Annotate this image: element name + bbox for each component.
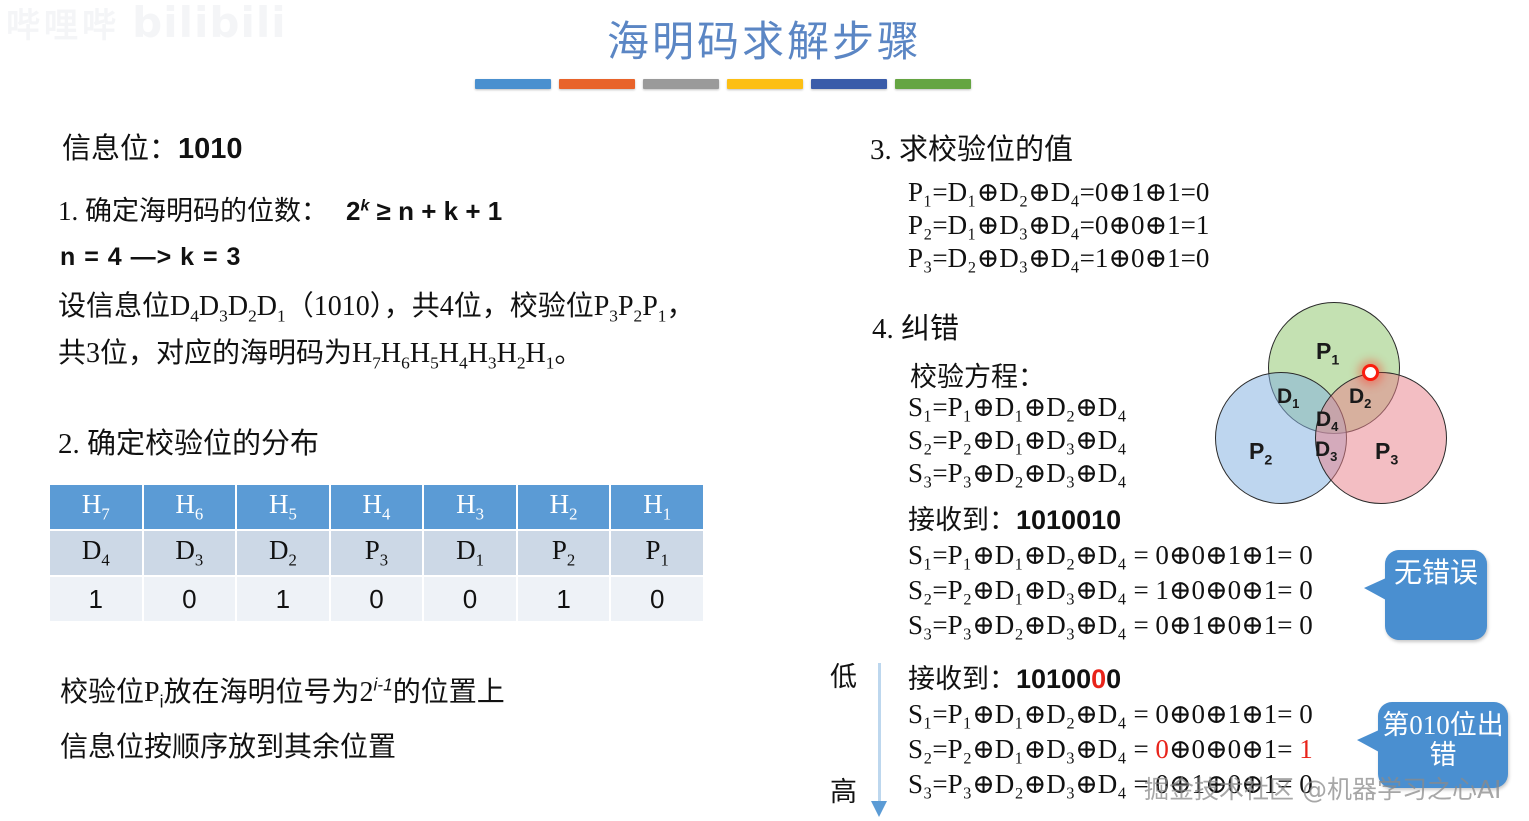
cell-base: D [175,535,195,565]
page-title: 海明码求解步骤 [0,8,1529,69]
high-label: 高 [830,770,857,809]
received-1-line: S₃=P₃⊕D₂⊕D₃⊕D₄ = 0⊕1⊕0⊕1= 0 [908,608,1313,643]
step-1-formula: 2k ≥ n + k + 1 [346,196,502,226]
cell-sub: 6 [195,505,203,524]
arrow-head-icon [871,801,887,817]
cell-sub: 1 [661,551,669,570]
table-cell: 0 [424,577,516,621]
received-2-value-red: 0 [1091,664,1106,694]
venn-base: P [1316,338,1331,364]
para2-seg-7: H [526,338,546,369]
venn-base: D [1349,385,1364,408]
cell-base: H [456,489,476,519]
cell-base: P [552,535,567,565]
cell-sub: 5 [288,505,296,524]
venn-base: D [1277,385,1292,408]
venn-label-d4: D4 [1316,408,1338,434]
para-sub-2: 3 [219,307,228,326]
para-sub-1: 4 [190,307,199,326]
arrow-stem [878,663,881,805]
left-column: 信息位：1010 1. 确定海明码的位数：2k ≥ n + k + 1 n = … [0,110,760,821]
title-bar-2 [559,79,635,89]
para2-seg-3: H [410,338,430,369]
para-seg-8: ， [666,291,694,322]
cursor-dot-icon [1362,364,1379,381]
formula-rest: ≥ n + k + 1 [369,196,502,226]
table-header-cell: H5 [237,485,329,529]
title-bar-4 [727,79,803,89]
cell-sub: 3 [380,551,388,570]
table-cell: 1 [50,577,142,621]
cell-base: H [363,489,383,519]
received-2-line: S₂=P₂⊕D₁⊕D₃⊕D₄ = 0⊕0⊕0⊕1= 1 [908,732,1313,767]
para2-seg-5: H [468,338,488,369]
venn-sub: 2 [1264,453,1272,469]
syndrome-equation-line: S₁=P₁⊕D₁⊕D₂⊕D₄ [908,391,1127,424]
table-row: D4 D3 D2 P3 D1 P2 P1 [50,531,703,575]
para2-sub-1: 7 [372,353,381,372]
cell-base: H [175,489,195,519]
note1-seg-2: 放在海明位号为2 [163,677,373,708]
title-bar-3 [643,79,719,89]
juejin-watermark: 掘金技术社区 @机器学习之心AI [1144,770,1501,806]
significance-arrow: 低 高 [830,655,890,820]
table-header-cell: H3 [424,485,516,529]
received-2-line: S₁=P₁⊕D₁⊕D₂⊕D₄ = 0⊕0⊕1⊕1= 0 [908,697,1313,732]
n-k-line: n = 4 —> k = 3 [60,243,241,272]
venn-label-d1: D1 [1277,385,1299,411]
para2-seg-2: H [381,338,401,369]
cell-base: D [269,535,289,565]
received-2-label: 接收到： [908,664,1016,694]
cell-base: D [82,535,102,565]
table-cell: 1 [518,577,610,621]
table-cell: 0 [611,577,703,621]
para2-sub-5: 3 [488,353,497,372]
information-bits-label: 信息位： [62,133,178,165]
parity-equation-line: P₂=D₁⊕D₃⊕D₄=0⊕0⊕1=1 [908,209,1209,242]
venn-sub: 4 [1331,419,1338,434]
cell-sub: 7 [101,505,109,524]
step-1-label: 1. 确定海明码的位数： [58,196,328,226]
table-cell: D2 [237,531,329,575]
para-sub-3: 2 [248,307,257,326]
cell-sub: 4 [382,505,390,524]
note1-sup: i-1 [373,675,392,695]
table-cell: 0 [144,577,236,621]
definition-paragraph: 设信息位D4D3D2D1（1010），共4位，校验位P3P2P1， 共3位，对应… [58,288,718,381]
venn-base: D [1315,438,1330,461]
para-seg-4: D [257,291,277,322]
para-seg-1: 设信息位D [58,291,190,322]
cell-sub: 1 [476,551,484,570]
received-2-value-tail: 0 [1106,664,1121,694]
para2-seg-1: 共3位，对应的海明码为H [58,338,372,369]
cell-base: H [82,489,102,519]
step-4-label: 4. 纠错 [872,305,959,347]
cell-base: H [269,489,289,519]
para-seg-7: P [642,291,658,322]
para2-seg-8: 。 [554,338,582,369]
cell-base: D [456,535,476,565]
cell-base: H [550,489,570,519]
venn-sub: 3 [1390,453,1398,469]
para2-seg-6: H [497,338,517,369]
information-bits-line: 信息位：1010 [62,125,243,167]
table-header-cell: H4 [331,485,423,529]
para-seg-3: D [228,291,248,322]
syndrome-equation-line: S₃=P₃⊕D₂⊕D₃⊕D₄ [908,457,1127,490]
para2-seg-4: H [439,338,459,369]
venn-sub: 3 [1330,449,1337,464]
step-1-line: 1. 确定海明码的位数：2k ≥ n + k + 1 [58,189,502,228]
callout-tail-icon [1357,730,1379,752]
check-equation-title: 校验方程： [910,355,1045,394]
callout-tail-icon [1364,578,1386,600]
received-2-header: 接收到：1010000 [908,662,1313,697]
venn-label-p1: P1 [1316,338,1339,369]
parity-equation-line: P₃=D₂⊕D₃⊕D₄=1⊕0⊕1=0 [908,242,1209,275]
para2-sub-4: 4 [459,353,468,372]
venn-label-d3: D3 [1315,438,1337,464]
callout-error-text: 第010位出错 [1382,710,1504,770]
syndrome-equation-line: S₂=P₂⊕D₁⊕D₃⊕D₄ [908,424,1127,457]
para2-sub-3: 5 [430,353,439,372]
note1-seg-1: 校验位P [60,677,160,708]
hamming-bit-table: H7 H6 H5 H4 H3 H2 H1 D4 D3 D2 P3 D1 P2 P… [48,483,705,623]
table-header-cell: H2 [518,485,610,529]
para-sub-4: 1 [277,307,286,326]
cell-sub: 4 [101,551,109,570]
received-1-line: S₁=P₁⊕D₁⊕D₂⊕D₄ = 0⊕0⊕1⊕1= 0 [908,538,1313,573]
venn-sub: 1 [1331,353,1339,369]
para-seg-2: D [199,291,219,322]
table-cell: D4 [50,531,142,575]
received-1-header: 接收到：1010010 [908,503,1313,538]
low-label: 低 [830,655,857,694]
table-row: 1 0 1 0 0 1 0 [50,577,703,621]
para-seg-6: P [618,291,634,322]
table-cell: 1 [237,577,329,621]
title-bar-1 [475,79,551,89]
cell-sub: 2 [567,551,575,570]
cell-base: P [365,535,380,565]
formula-base: 2 [346,196,360,226]
received-2-line2-red1: 0 [1155,734,1169,764]
title-decoration-bars [475,79,971,89]
received-2-line2-a: S₂=P₂⊕D₁⊕D₃⊕D₄ = [908,734,1155,764]
table-header-row: H7 H6 H5 H4 H3 H2 H1 [50,485,703,529]
venn-sub: 2 [1364,396,1371,411]
cell-sub: 3 [195,551,203,570]
venn-base: D [1316,408,1331,431]
data-placement-note: 信息位按顺序放到其余位置 [60,725,396,765]
table-cell: D1 [424,531,516,575]
parity-equations: P₁=D₁⊕D₂⊕D₄=0⊕1⊕1=0 P₂=D₁⊕D₃⊕D₄=0⊕0⊕1=1 … [908,176,1209,275]
title-bar-5 [811,79,887,89]
parity-equation-line: P₁=D₁⊕D₂⊕D₄=0⊕1⊕1=0 [908,176,1209,209]
syndrome-equations: S₁=P₁⊕D₁⊕D₂⊕D₄ S₂=P₂⊕D₁⊕D₃⊕D₄ S₃=P₃⊕D₂⊕D… [908,391,1127,490]
received-1-value: 1010010 [1016,505,1121,535]
received-1-line: S₂=P₂⊕D₁⊕D₃⊕D₄ = 1⊕0⊕0⊕1= 0 [908,573,1313,608]
received-2-line2-red2: 1 [1299,734,1313,764]
note1-seg-3: 的位置上 [393,677,505,708]
table-cell: D3 [144,531,236,575]
table-header-cell: H7 [50,485,142,529]
title-bar-6 [895,79,971,89]
step-3-label: 3. 求校验位的值 [870,126,1073,168]
venn-label-p2: P2 [1249,438,1272,469]
parity-placement-note: 校验位Pi放在海明位号为2i-1的位置上 [60,670,505,713]
table-header-cell: H6 [144,485,236,529]
venn-label-d2: D2 [1349,385,1371,411]
cell-base: H [643,489,663,519]
table-cell: P1 [611,531,703,575]
cell-base: P [645,535,660,565]
received-1-label: 接收到： [908,505,1016,535]
callout-no-error-text: 无错误 [1394,558,1478,589]
table-cell: P3 [331,531,423,575]
venn-diagram: P1 P2 P3 D1 D2 D3 D4 [1215,302,1445,517]
callout-no-error: 无错误 [1385,550,1487,640]
step-2-label: 2. 确定校验位的分布 [58,420,319,462]
table-cell: 0 [331,577,423,621]
information-bits-value: 1010 [178,133,243,165]
cell-sub: 3 [476,505,484,524]
cell-sub: 2 [288,551,296,570]
venn-label-p3: P3 [1375,438,1398,469]
para-sub-6: 2 [634,307,643,326]
received-2-line2-b: ⊕0⊕0⊕1= [1169,734,1299,764]
received-2-value-black: 10100 [1016,664,1091,694]
para-sub-5: 3 [609,307,618,326]
table-header-cell: H1 [611,485,703,529]
cell-sub: 1 [663,505,671,524]
venn-base: P [1249,438,1264,464]
venn-base: P [1375,438,1390,464]
right-column: 3. 求校验位的值 P₁=D₁⊕D₂⊕D₄=0⊕1⊕1=0 P₂=D₁⊕D₃⊕D… [760,110,1529,821]
para2-sub-6: 2 [517,353,526,372]
para-seg-5: （1010），共4位，校验位P [286,291,610,322]
cell-sub: 2 [569,505,577,524]
para2-sub-2: 6 [401,353,410,372]
venn-sub: 1 [1292,396,1299,411]
received-case-1: 接收到：1010010 S₁=P₁⊕D₁⊕D₂⊕D₄ = 0⊕0⊕1⊕1= 0 … [908,503,1313,643]
table-cell: P2 [518,531,610,575]
